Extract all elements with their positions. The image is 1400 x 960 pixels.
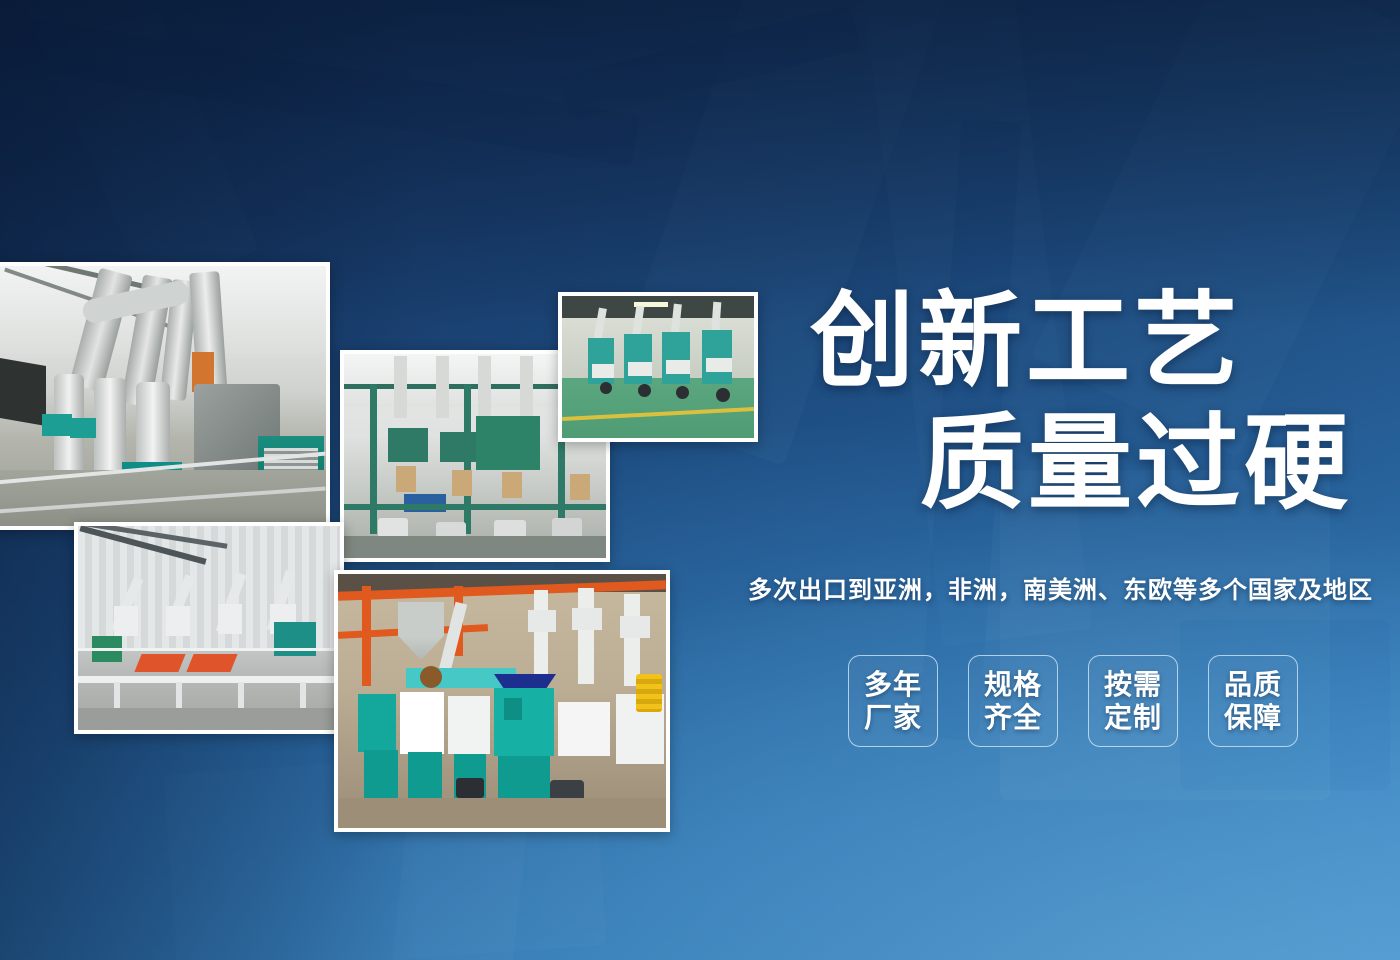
collage-photo-3 bbox=[558, 292, 758, 442]
feature-badge-custom-made[interactable]: 按需 定制 bbox=[1088, 655, 1178, 747]
badge-line-2: 齐全 bbox=[984, 701, 1042, 734]
feature-badge-years-manufacturer[interactable]: 多年 厂家 bbox=[848, 655, 938, 747]
badge-line-2: 保障 bbox=[1224, 701, 1282, 734]
feature-badge-group: 多年 厂家 规格 齐全 按需 定制 品质 保障 bbox=[848, 655, 1298, 747]
collage-photo-1 bbox=[0, 262, 330, 530]
promotional-banner: 创新工艺 质量过硬 多次出口到亚洲，非洲，南美洲、东欧等多个国家及地区 多年 厂… bbox=[0, 0, 1400, 960]
feature-badge-quality-guarantee[interactable]: 品质 保障 bbox=[1208, 655, 1298, 747]
headline-line-1: 创新工艺 bbox=[790, 288, 1370, 396]
badge-line-1: 品质 bbox=[1224, 668, 1282, 701]
badge-line-2: 定制 bbox=[1104, 701, 1162, 734]
headline-block: 创新工艺 质量过硬 bbox=[790, 288, 1370, 518]
badge-line-1: 多年 bbox=[864, 668, 922, 701]
collage-photo-4 bbox=[74, 522, 344, 734]
badge-line-1: 规格 bbox=[984, 668, 1042, 701]
headline-line-2: 质量过硬 bbox=[790, 410, 1370, 518]
badge-line-1: 按需 bbox=[1104, 668, 1162, 701]
subtitle-text: 多次出口到亚洲，非洲，南美洲、东欧等多个国家及地区 bbox=[748, 570, 1378, 605]
collage-photo-5 bbox=[334, 570, 670, 832]
feature-badge-full-specs[interactable]: 规格 齐全 bbox=[968, 655, 1058, 747]
badge-line-2: 厂家 bbox=[864, 701, 922, 734]
